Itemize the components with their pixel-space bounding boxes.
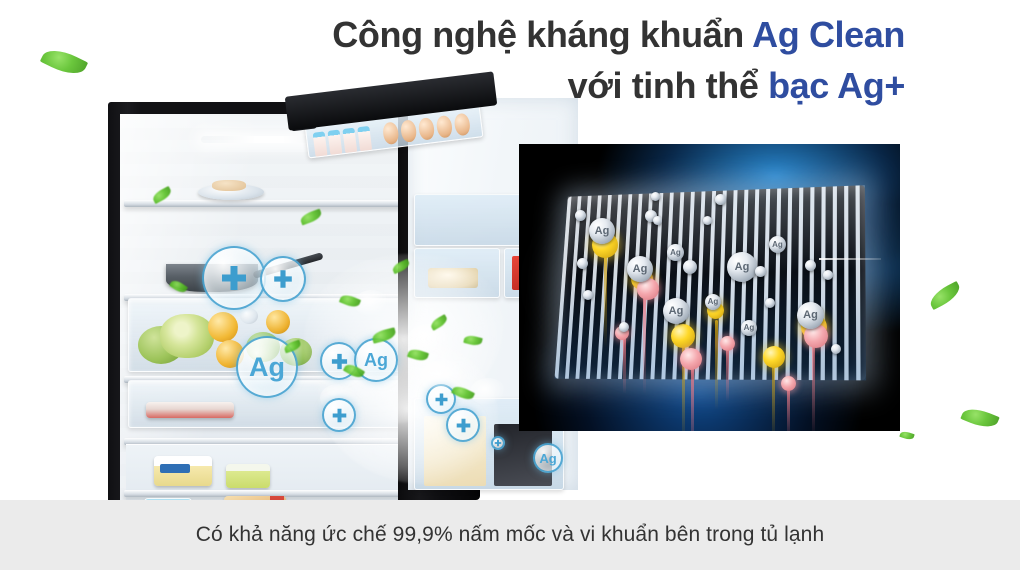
badge-plus-6 <box>446 408 480 442</box>
silver-bead-small-7 <box>683 260 697 274</box>
plus-icon <box>331 407 348 424</box>
leaf-decor-right-1 <box>926 281 963 310</box>
plus-icon <box>272 268 294 290</box>
silver-bead-6: Ag <box>667 244 684 261</box>
badge-ag-3: Ag <box>533 443 563 473</box>
shelf-top <box>124 200 426 207</box>
orange-fruit-1 <box>208 312 238 342</box>
egg-5 <box>453 113 471 137</box>
leaf-decor-right-3 <box>899 430 914 441</box>
silver-bead-9: Ag <box>741 320 757 336</box>
silver-bead-small-11 <box>805 260 816 271</box>
silver-bead-small-10 <box>755 266 766 277</box>
page-title: Công nghệ kháng khuẩn Ag Clean với tinh … <box>145 12 905 108</box>
caption-text: Có khả năng ức chế 99,9% nấm mốc và vi k… <box>196 523 824 547</box>
trail-pink-4 <box>726 344 729 402</box>
food-on-plate <box>212 180 246 191</box>
germ-4 <box>720 336 735 351</box>
silver-bead-small-12 <box>823 270 833 280</box>
plus-icon <box>494 439 502 447</box>
ag-crystal-5 <box>763 346 785 368</box>
germ-3 <box>680 348 702 370</box>
badge-plus-2 <box>260 256 306 302</box>
badge-plus-7 <box>491 436 505 450</box>
silver-bead-small-5 <box>583 290 593 300</box>
dairy-tub <box>226 464 270 488</box>
pointer-line <box>819 258 881 260</box>
silver-bead-2: Ag <box>627 256 653 282</box>
ag-crystal-photo: Ag Ag Ag Ag Ag Ag Ag Ag Ag <box>519 144 900 431</box>
title-line-2: với tinh thể bạc Ag+ <box>145 63 905 108</box>
silver-bead-small-15 <box>703 216 712 225</box>
refrigerator-photo: Ag Ag <box>108 84 480 500</box>
egg-3 <box>418 117 436 141</box>
egg-1 <box>382 121 400 145</box>
bottle-4 <box>357 126 372 153</box>
filter-grille <box>555 185 867 380</box>
leaf-decor-right-2 <box>960 404 999 432</box>
silver-bead-small-4 <box>577 258 588 269</box>
title-line-1: Công nghệ kháng khuẩn Ag Clean <box>145 12 905 57</box>
bottle-1 <box>313 131 328 158</box>
packaged-meat <box>146 402 234 418</box>
silver-bead-small-3 <box>653 216 662 225</box>
leaf-decor-top-left <box>40 43 88 80</box>
germ-5 <box>781 376 796 391</box>
silver-bead-1: Ag <box>589 218 615 244</box>
bottle-2 <box>328 130 343 157</box>
silver-bead-small-1 <box>575 210 586 221</box>
trail-pink-2 <box>691 360 694 431</box>
silver-bead-8: Ag <box>705 294 721 310</box>
title-line-2-plain: với tinh thể <box>568 65 768 106</box>
silver-bead-small-6 <box>619 322 629 332</box>
badge-plus-4 <box>322 398 356 432</box>
trail-yellow-1 <box>604 252 607 348</box>
egg-4 <box>436 115 454 139</box>
promo-banner: Công nghệ kháng khuẩn Ag Clean với tinh … <box>0 0 1020 570</box>
silver-bead-small-8 <box>715 194 726 205</box>
trail-pink-1 <box>643 284 646 394</box>
title-line-1-plain: Công nghệ kháng khuẩn <box>332 14 752 55</box>
badge-plus-1 <box>202 246 266 310</box>
silver-bead-7: Ag <box>769 236 786 253</box>
silver-bead-small-9 <box>651 192 660 201</box>
bottle-3 <box>342 128 357 155</box>
plus-icon <box>455 417 472 434</box>
caption-bar: Có khả năng ức chế 99,9% nấm mốc và vi k… <box>0 500 1020 570</box>
silver-bead-4: Ag <box>727 252 757 282</box>
silver-bead-3: Ag <box>663 298 689 324</box>
trail-yellow-3 <box>715 320 718 410</box>
title-line-1-highlight: Ag Clean <box>752 14 905 55</box>
grapes <box>160 314 214 358</box>
silver-bead-small-14 <box>765 298 775 308</box>
trail-pink-3 <box>623 334 626 394</box>
silver-bead-small-13 <box>831 344 841 354</box>
mist-puff-5 <box>470 378 506 406</box>
plus-icon <box>219 263 249 293</box>
orange-fruit-3 <box>266 310 290 334</box>
title-line-2-highlight: bạc Ag+ <box>768 65 905 106</box>
ag-crystal-3 <box>671 324 695 348</box>
silver-bead-5: Ag <box>797 302 824 329</box>
egg-2 <box>400 119 418 143</box>
garlic <box>240 308 258 324</box>
butter-tub-label <box>160 464 190 473</box>
